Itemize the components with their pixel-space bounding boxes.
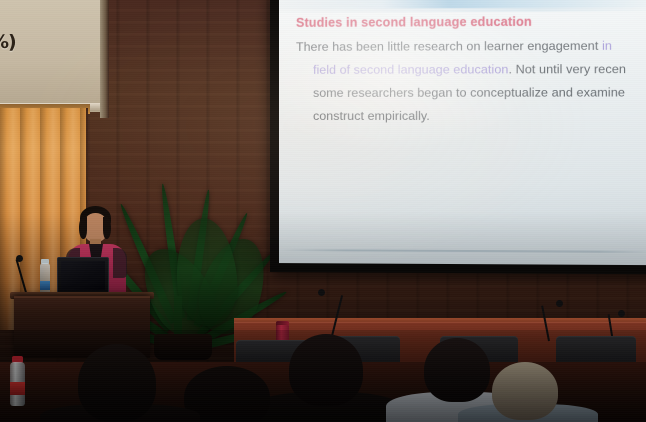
table-microphone-head-icon-2 <box>556 300 563 307</box>
table-microphone-head-icon-3 <box>618 310 625 317</box>
audience-head-4 <box>424 338 490 402</box>
audience-head-3 <box>289 334 363 406</box>
foreground-bottle-label-1 <box>10 382 25 395</box>
lecture-hall-photo: %) <box>0 0 646 422</box>
audience-head-1 <box>78 344 156 422</box>
audience-head-5 <box>492 362 558 420</box>
table-microphone-head-icon-1 <box>318 289 325 296</box>
